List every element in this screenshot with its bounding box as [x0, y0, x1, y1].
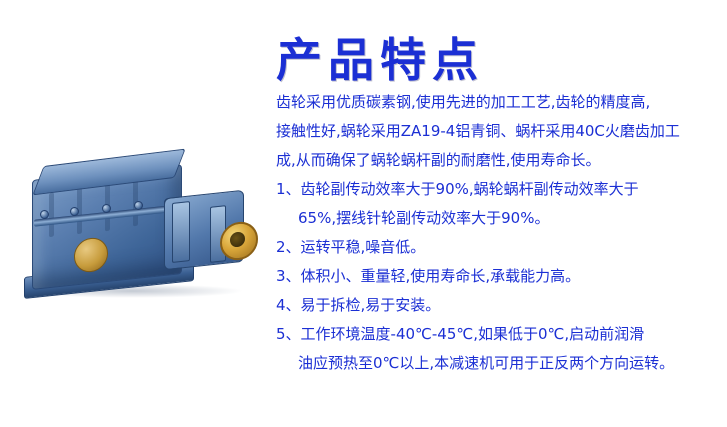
feature-line: 齿轮采用优质碳素钢,使用先进的加工工艺,齿轮的精度高,	[276, 88, 724, 117]
feature-line: 成,从而确保了蜗轮蜗杆副的耐磨性,使用寿命长。	[276, 146, 724, 175]
housing-rib	[49, 192, 54, 237]
shaft-flange-left	[172, 201, 190, 263]
feature-line: 4、易于拆检,易于安装。	[276, 291, 724, 320]
feature-list: 齿轮采用优质碳素钢,使用先进的加工工艺,齿轮的精度高, 接触性好,蜗轮采用ZA1…	[276, 88, 724, 378]
feature-text-panel: 产品特点 齿轮采用优质碳素钢,使用先进的加工工艺,齿轮的精度高, 接触性好,蜗轮…	[268, 0, 727, 427]
page-title: 产品特点	[276, 24, 484, 90]
feature-line: 65%,摆线针轮副传动效率大于90%。	[276, 204, 724, 233]
housing-bolt	[40, 210, 49, 219]
housing-bolt	[70, 207, 79, 216]
product-photo-area	[0, 0, 268, 427]
housing-bolt	[134, 201, 143, 210]
feature-line: 2、运转平稳,噪音低。	[276, 233, 724, 262]
feature-line: 5、工作环境温度-40℃-45℃,如果低于0℃,启动前润滑	[276, 320, 724, 349]
feature-line: 油应预热至0℃以上,本减速机可用于正反两个方向运转。	[276, 349, 724, 378]
feature-line: 3、体积小、重量轻,使用寿命长,承载能力高。	[276, 262, 724, 291]
feature-line: 接触性好,蜗轮采用ZA19-4铝青铜、蜗杆采用40C火磨齿加工	[276, 117, 724, 146]
housing-bolt	[102, 204, 111, 213]
gear-reducer-illustration	[14, 150, 264, 310]
feature-line: 1、齿轮副传动效率大于90%,蜗轮蜗杆副传动效率大于	[276, 175, 724, 204]
product-feature-banner: 产品特点 齿轮采用优质碳素钢,使用先进的加工工艺,齿轮的精度高, 接触性好,蜗轮…	[0, 0, 727, 427]
